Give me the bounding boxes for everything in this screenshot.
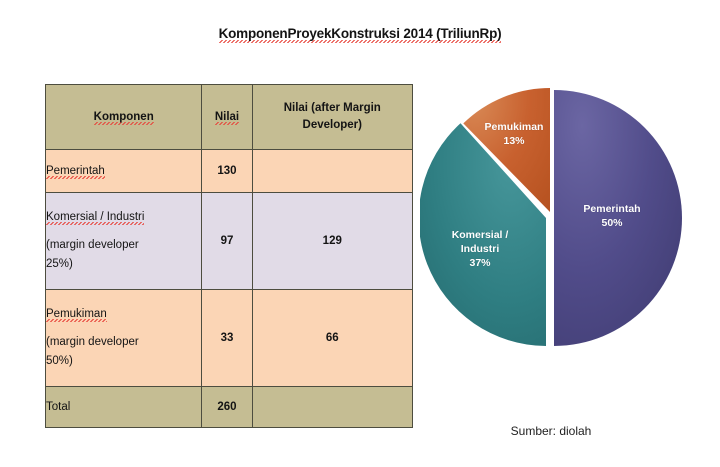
table-row: Komersial / Industri (margin developer 2… [46,193,413,290]
pie-chart-svg [420,84,682,356]
komponen-data-table: Komponen Nilai Nilai (after Margin Devel… [45,84,413,428]
table-body: Pemerintah 130 Komersial / Industri (mar… [46,150,413,428]
cell-nilai: 130 [202,150,252,193]
source-note: Sumber: diolah [420,424,682,438]
cell-komponen-label: Komersial / Industri [46,211,144,225]
cell-komponen-label-line2: (margin developer [46,237,201,254]
cell-nilai: 33 [202,290,252,387]
cell-nilai: 260 [202,387,252,428]
cell-komponen: Pemerintah [46,150,202,193]
pie-slice-pemerintah [554,90,682,346]
table-row: Pemukiman (margin developer 50%) 33 66 [46,290,413,387]
cell-nilai: 97 [202,193,252,290]
table-row-total: Total 260 [46,387,413,428]
cell-after-margin [252,387,412,428]
cell-komponen-label-line3: 25%) [46,256,201,273]
cell-komponen-label: Pemukiman [46,308,107,322]
cell-after-margin [252,150,412,193]
column-header-after-margin-line1: Nilai (after Margin [284,102,381,114]
cell-after-margin: 66 [252,290,412,387]
column-header-after-margin-line2: Developer) [303,119,362,131]
cell-komponen-label: Pemerintah [46,165,105,179]
cell-after-margin: 129 [252,193,412,290]
page-title-text: KomponenProyekKonstruksi 2014 (TriliunRp… [219,26,502,43]
table-header: Komponen Nilai Nilai (after Margin Devel… [46,85,413,150]
column-header-nilai: Nilai [202,85,252,150]
column-header-after-margin: Nilai (after Margin Developer) [252,85,412,150]
cell-komponen: Komersial / Industri (margin developer 2… [46,193,202,290]
page-title: KomponenProyekKonstruksi 2014 (TriliunRp… [0,26,720,41]
cell-komponen: Total [46,387,202,428]
table-header-row: Komponen Nilai Nilai (after Margin Devel… [46,85,413,150]
cell-komponen-label-line3: 50%) [46,353,201,370]
column-header-nilai-label: Nilai [215,111,239,125]
column-header-komponen-label: Komponen [94,111,154,125]
column-header-komponen: Komponen [46,85,202,150]
pie-chart: Pemerintah 50% Komersial / Industri 37% … [420,84,682,356]
cell-komponen-label-line2: (margin developer [46,334,201,351]
table-row: Pemerintah 130 [46,150,413,193]
cell-komponen: Pemukiman (margin developer 50%) [46,290,202,387]
